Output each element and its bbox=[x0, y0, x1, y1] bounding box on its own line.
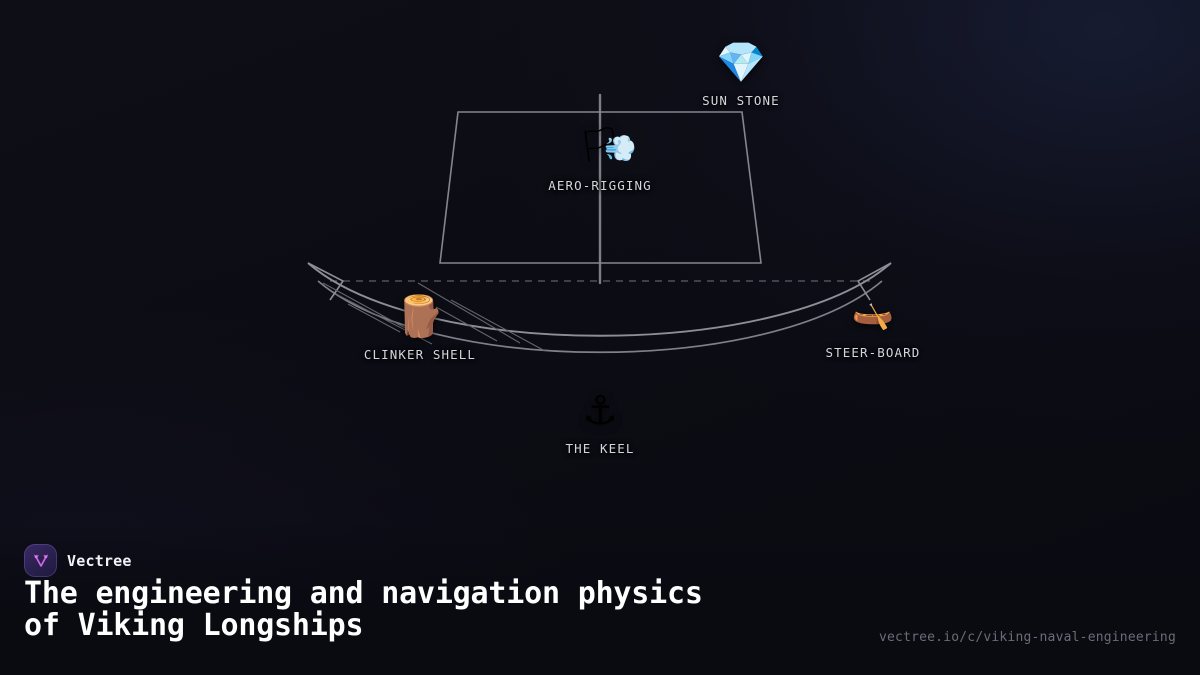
node-steer-board[interactable]: 🛶 STEER-BOARD bbox=[783, 295, 963, 360]
node-label-the-keel: THE KEEL bbox=[510, 441, 690, 456]
node-aero-rigging[interactable]: 🏳 💨 AERO-RIGGING bbox=[510, 128, 690, 193]
node-the-keel[interactable]: ⚓ THE KEEL bbox=[510, 391, 690, 456]
node-label-steer-board: STEER-BOARD bbox=[783, 345, 963, 360]
node-label-aero-rigging: AERO-RIGGING bbox=[510, 178, 690, 193]
node-label-sun-stone: SUN STONE bbox=[651, 93, 831, 108]
brand: Vectree bbox=[24, 544, 132, 577]
vectree-glyph bbox=[31, 551, 51, 571]
gem-stone-icon: 💎 bbox=[651, 43, 831, 89]
brand-name: Vectree bbox=[67, 552, 132, 570]
vectree-logo-icon bbox=[24, 544, 57, 577]
node-clinker-shell[interactable]: 🪵 CLINKER SHELL bbox=[330, 297, 510, 362]
share-card-canvas: 💎 SUN STONE 🏳 💨 AERO-RIGGING 🪵 CLINKER S… bbox=[0, 0, 1200, 675]
node-label-clinker-shell: CLINKER SHELL bbox=[330, 347, 510, 362]
anchor-icon: ⚓ bbox=[510, 391, 690, 437]
wood-log-icon: 🪵 bbox=[330, 297, 510, 343]
source-url: vectree.io/c/viking-naval-engineering bbox=[879, 630, 1176, 645]
wind-dash-icon: 💨 bbox=[604, 136, 636, 162]
page-title: The engineering and navigation physics o… bbox=[24, 578, 904, 642]
node-sun-stone[interactable]: 💎 SUN STONE bbox=[651, 43, 831, 108]
sail-wind-icon: 🏳 💨 bbox=[578, 128, 621, 174]
canoe-icon: 🛶 bbox=[783, 295, 963, 341]
